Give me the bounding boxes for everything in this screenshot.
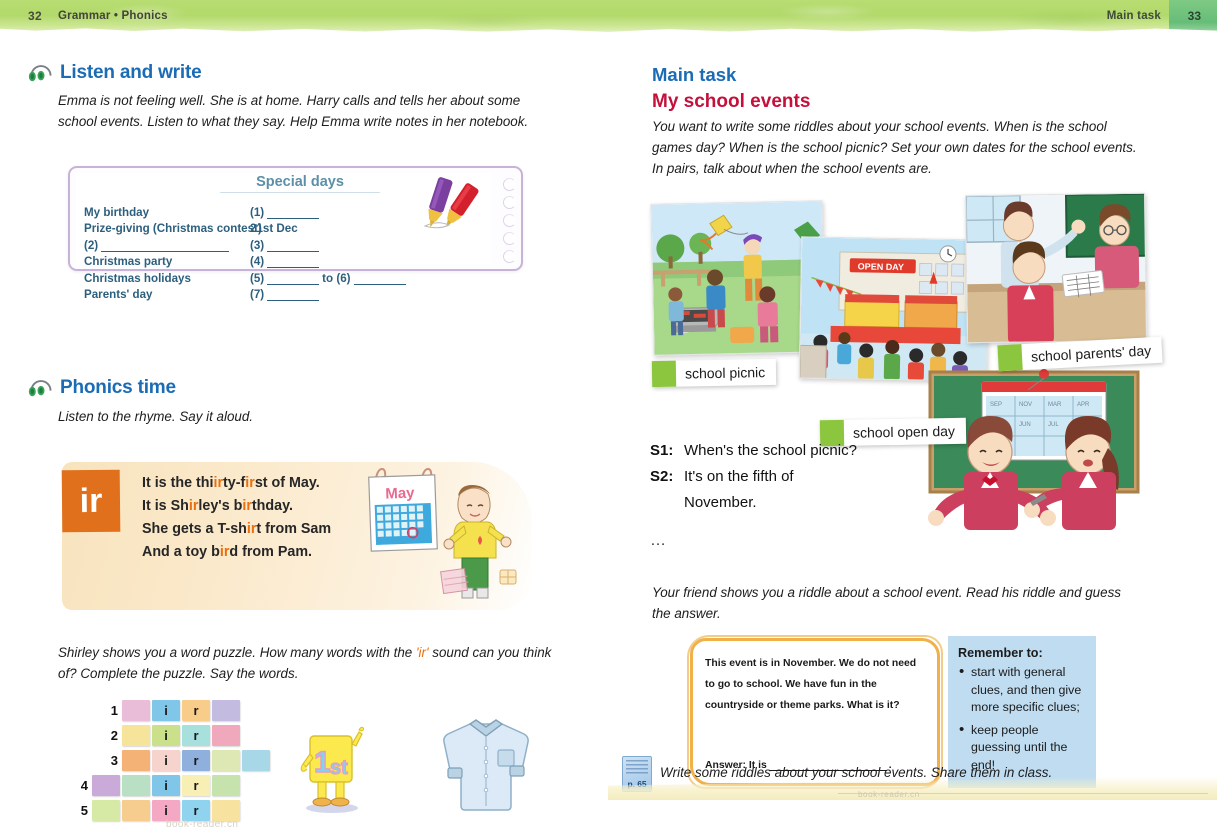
header-label-left: Grammar • Phonics [58, 10, 168, 22]
svg-text:SEP: SEP [990, 402, 1002, 408]
school-open-day-illustration[interactable]: OPEN DAY [799, 236, 989, 381]
notebook-row-answer: (7) [250, 288, 504, 301]
answer-blank-2[interactable] [354, 274, 406, 285]
speaker-line: It's on the fifth of [684, 464, 794, 490]
speaker-line: November. [684, 490, 757, 516]
label-chip [997, 344, 1022, 371]
right-page-column: Main task My school events You want to w… [608, 34, 1217, 800]
puzzle-row-number: 5 [74, 803, 88, 818]
label-chip [652, 361, 676, 387]
svg-text:MAR: MAR [1048, 402, 1062, 408]
phonics-rhyme-box: ir It is the thiirty-first of May. It is… [62, 462, 532, 610]
answer-blank[interactable] [267, 274, 319, 285]
puzzle-cell[interactable] [212, 700, 240, 721]
puzzle-cell[interactable] [92, 775, 120, 796]
phonics-time-title: Phonics time [60, 377, 176, 399]
puzzle-cell[interactable] [122, 700, 150, 721]
notebook-row-label: Christmas holidays [84, 272, 250, 285]
answer-tail: to (6) [322, 272, 350, 285]
page-header-band: 32 Grammar • Phonics Main task 33 [0, 0, 1217, 34]
header-label-right: Main task [1107, 10, 1161, 22]
puzzle-cell[interactable]: i [152, 800, 180, 821]
headphones-icon [28, 379, 54, 397]
boy-with-gifts-illustration [434, 478, 522, 603]
puzzle-cell[interactable]: r [182, 700, 210, 721]
dialogue-ellipsis: … [650, 528, 857, 554]
remember-list: start with general clues, and then give … [958, 664, 1088, 774]
phonics-time-heading: Phonics time [28, 377, 176, 399]
svg-text:1: 1 [314, 746, 331, 779]
puzzle-cell[interactable] [122, 725, 150, 746]
puzzle-cell[interactable] [212, 800, 240, 821]
speaker-label: S1: [650, 438, 684, 464]
speaker-label: S2: [650, 464, 684, 490]
sample-dialogue: S1: When's the school picnic? S2: It's o… [650, 438, 857, 554]
watermark-right: book-reader.cn [858, 790, 920, 799]
school-events-photo-collage: OPEN DAY [652, 194, 1182, 424]
left-page-column: Listen and write Emma is not feeling wel… [0, 34, 608, 800]
puzzle-instruction: Shirley shows you a word puzzle. How man… [58, 642, 558, 684]
svg-text:OPEN DAY: OPEN DAY [858, 261, 904, 272]
notebook-row: Parents' day (7) [84, 285, 504, 302]
notebook-row-label: Christmas party [84, 255, 250, 268]
dialogue-line: November. [650, 490, 857, 516]
main-task-title: Main task [652, 64, 736, 86]
notebook-row-answer: (3) [250, 239, 504, 252]
answer-blank[interactable] [267, 208, 319, 219]
dialogue-line: S2: It's on the fifth of [650, 464, 857, 490]
main-task-subtitle: My school events [652, 91, 810, 113]
puzzle-cell[interactable]: i [152, 750, 180, 771]
students-at-calendar-illustration[interactable]: SEPNOVMARAPR MAYJUNJUL OCT [922, 364, 1150, 532]
page-number-left: 32 [28, 9, 42, 23]
puzzle-cell[interactable] [212, 750, 240, 771]
puzzle-instruction-highlight: 'ir' [416, 645, 429, 660]
puzzle-cell[interactable]: i [152, 725, 180, 746]
puzzle-row-number: 1 [104, 703, 118, 718]
notebook-spiral-holes [496, 178, 516, 264]
answer-blank[interactable] [267, 290, 319, 301]
svg-text:st: st [330, 757, 348, 779]
answer-number: (3) [250, 239, 264, 252]
svg-text:NOV: NOV [1019, 402, 1032, 408]
main-task-instruction: You want to write some riddles about you… [652, 116, 1142, 179]
puzzle-instruction-before: Shirley shows you a word puzzle. How man… [58, 645, 416, 660]
special-days-notebook: Special days My birthday (1) Prize-givin… [68, 166, 523, 271]
puzzle-cell[interactable]: r [182, 775, 210, 796]
puzzle-cell[interactable]: r [182, 750, 210, 771]
school-parents-day-illustration[interactable] [965, 193, 1147, 343]
photo-label-text: school parents' day [1022, 342, 1163, 365]
svg-text:JUN: JUN [1019, 422, 1031, 428]
notebook-row-label: Prize-giving (Christmas contest) [84, 222, 250, 235]
puzzle-cell[interactable] [212, 775, 240, 796]
puzzle-cell[interactable]: i [152, 700, 180, 721]
rhyme-line-4: And a toy bird from Pam. [142, 541, 331, 564]
speaker-line: When's the school picnic? [684, 438, 857, 464]
puzzle-cell[interactable]: i [152, 775, 180, 796]
shirt-illustration [440, 710, 532, 814]
puzzle-cell[interactable] [122, 750, 150, 771]
notebook-row-label-blank: (2) [84, 239, 250, 252]
puzzle-cell[interactable]: r [182, 800, 210, 821]
puzzle-cell[interactable] [122, 800, 150, 821]
first-place-ribbon-illustration: 1 st [300, 722, 364, 814]
speaker-label [650, 490, 684, 516]
riddle-instruction: Your friend shows you a riddle about a s… [652, 582, 1132, 624]
rhyme-text: It is the thiirty-first of May. It is Sh… [142, 472, 331, 564]
rhyme-line-2: It is Shirley's birthday. [142, 495, 331, 518]
listen-and-write-title: Listen and write [60, 62, 201, 84]
photo-label-text: school open day [844, 423, 966, 441]
label-number: (2) [84, 239, 98, 252]
puzzle-cell[interactable] [122, 775, 150, 796]
headphones-icon [28, 64, 54, 82]
puzzle-row-number: 2 [104, 728, 118, 743]
answer-number: (7) [250, 288, 264, 301]
dialogue-line: S1: When's the school picnic? [650, 438, 857, 464]
photo-label-text: school picnic [676, 364, 776, 382]
notebook-row-answer: (5) to (6) [250, 272, 504, 285]
notebook-row: Christmas holidays (5) to (6) [84, 268, 504, 285]
notebook-row-answer: (4) [250, 255, 504, 268]
svg-text:JUL: JUL [1048, 422, 1059, 428]
answer-number: (4) [250, 255, 264, 268]
answer-blank[interactable] [267, 257, 319, 268]
page-number-right: 33 [1188, 9, 1201, 23]
answer-number: (5) [250, 272, 264, 285]
notebook-row: Christmas party (4) [84, 252, 504, 269]
remember-title: Remember to: [958, 646, 1088, 660]
puzzle-row-number: 3 [104, 753, 118, 768]
notebook-row-label: Parents' day [84, 288, 250, 301]
listen-and-write-instruction: Emma is not feeling well. She is at home… [58, 90, 538, 132]
svg-text:May: May [385, 485, 415, 503]
answer-number: (1) [250, 206, 264, 219]
phonics-time-instruction: Listen to the rhyme. Say it aloud. [58, 406, 538, 427]
rhyme-line-1: It is the thiirty-first of May. [142, 472, 331, 495]
may-calendar-illustration: May [362, 466, 444, 556]
notebook-title: Special days [220, 174, 380, 193]
label-blank[interactable] [101, 241, 229, 252]
svg-text:APR: APR [1077, 402, 1090, 408]
watermark-left: book-reader.cn [166, 819, 238, 830]
puzzle-cell[interactable] [92, 800, 120, 821]
header-texture [0, 0, 1217, 34]
puzzle-cell[interactable] [212, 725, 240, 746]
puzzle-row-number: 4 [74, 778, 88, 793]
notebook-row-label: My birthday [84, 206, 250, 219]
listen-and-write-heading: Listen and write [28, 62, 201, 84]
two-pens-illustration [411, 176, 489, 238]
riddle-text: This event is in November. We do not nee… [705, 653, 927, 716]
answer-blank[interactable] [267, 241, 319, 252]
remember-item: start with general clues, and then give … [958, 664, 1088, 717]
workbook-lines-icon [626, 760, 648, 776]
answer-value: 21st Dec [250, 222, 298, 235]
puzzle-cell[interactable]: r [182, 725, 210, 746]
photo-label-school-picnic[interactable]: school picnic [652, 359, 777, 387]
puzzle-cell[interactable] [242, 750, 270, 771]
ir-sound-tile: ir [62, 470, 121, 533]
rhyme-line-3: She gets a T-shirt from Sam [142, 518, 331, 541]
